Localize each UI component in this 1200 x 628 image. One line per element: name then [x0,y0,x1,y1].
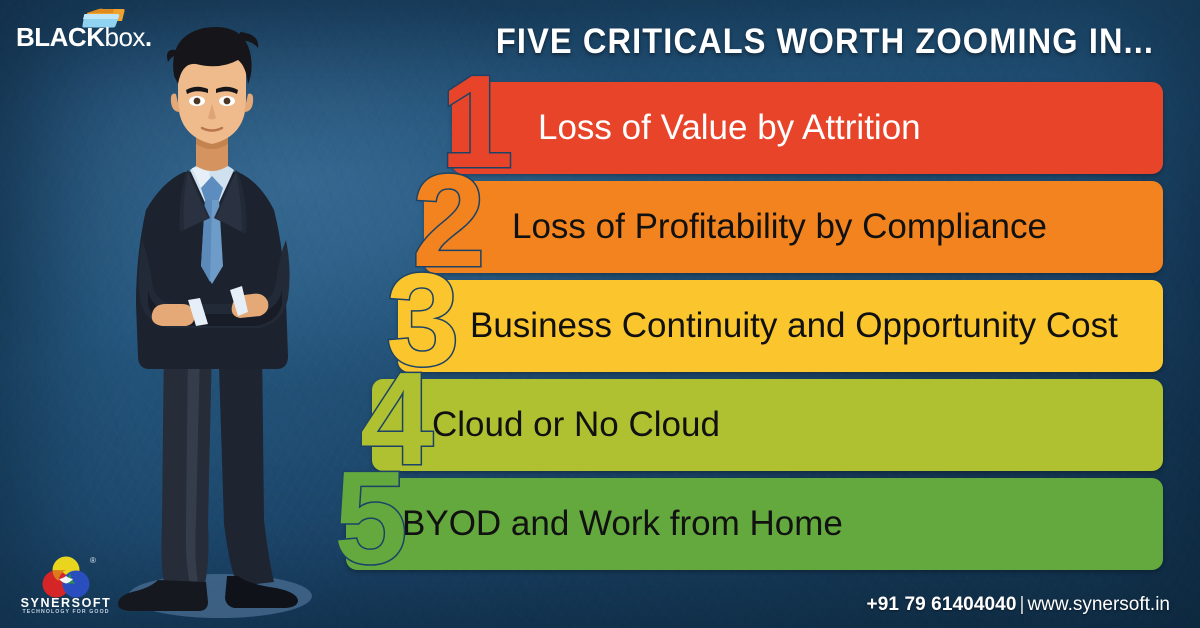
logo-text-black: BLACK [16,22,105,52]
critical-bar-3[interactable]: Business Continuity and Opportunity Cost [398,280,1163,372]
critical-label-1: Loss of Value by Attrition [538,109,921,147]
company-name: SYNERSOFT [18,596,114,610]
page-title: FIVE CRITICALS WORTH ZOOMING IN... [495,20,1155,64]
logo-text-box: box [105,22,145,52]
synersoft-logo: ® SYNERSOFT TECHNOLOGY FOR GOOD [18,556,114,618]
blackbox-logo: BLACKbox. [8,6,158,52]
critical-label-5: BYOD and Work from Home [402,505,843,543]
blackbox-wordmark: BLACKbox. [16,24,152,50]
item-number-5: 5 [334,452,407,584]
critical-bar-5[interactable]: BYOD and Work from Home [346,478,1163,570]
critical-bar-4[interactable]: Cloud or No Cloud [372,379,1163,471]
company-tagline: TECHNOLOGY FOR GOOD [18,609,114,615]
website-link[interactable]: www.synersoft.in [1027,594,1170,615]
synersoft-circles-icon [18,556,114,598]
businessman-illustration [92,4,342,624]
logo-text-dot: . [145,22,152,52]
registered-mark: ® [90,556,96,565]
critical-label-3: Business Continuity and Opportunity Cost [470,307,1118,345]
contact-footer: +91 79 61404040|www.synersoft.in [867,594,1170,616]
infographic-canvas: BLACKbox. FIVE CRITICALS WORTH ZOOMING I… [0,0,1200,628]
critical-bar-1[interactable]: Loss of Value by Attrition [452,82,1163,174]
critical-label-4: Cloud or No Cloud [432,406,720,444]
phone-number[interactable]: +91 79 61404040 [867,594,1017,615]
footer-separator: | [1017,594,1028,615]
critical-label-2: Loss of Profitability by Compliance [512,208,1047,246]
critical-bar-2[interactable]: Loss of Profitability by Compliance [424,181,1163,273]
